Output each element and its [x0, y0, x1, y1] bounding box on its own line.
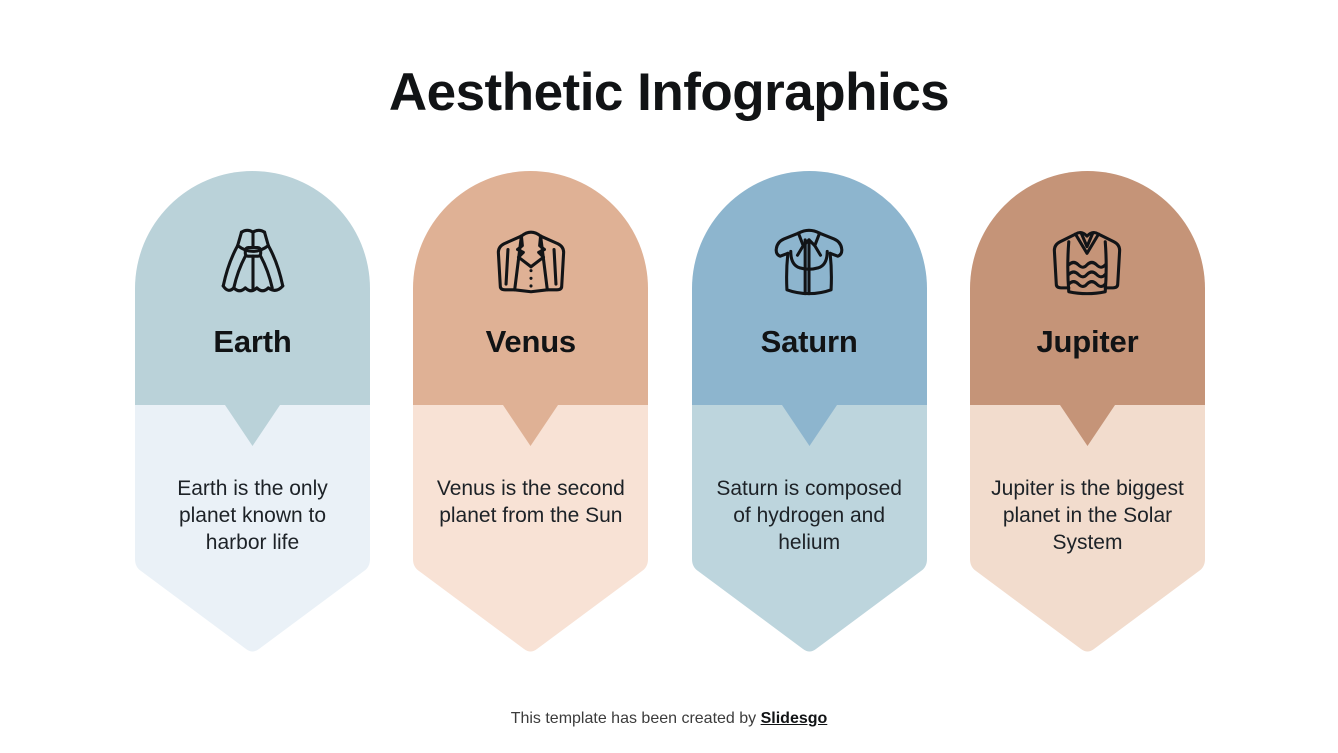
- infographic-card-row: Earth Earth is the only planet known to …: [135, 171, 1205, 661]
- card-content: Jupiter: [970, 171, 1205, 661]
- infographic-card-earth[interactable]: Earth Earth is the only planet known to …: [135, 171, 370, 661]
- card-body-text: Venus is the second planet from the Sun: [427, 476, 634, 530]
- card-body-text: Earth is the only planet known to harbor…: [149, 476, 356, 557]
- sweater-icon: [1039, 213, 1135, 309]
- card-body-text: Saturn is composed of hydrogen and heliu…: [706, 476, 913, 557]
- card-heading: Jupiter: [1037, 325, 1139, 359]
- blazer-icon: [483, 213, 579, 309]
- page-title: Aesthetic Infographics: [0, 64, 1338, 122]
- blouse-icon: [761, 213, 857, 309]
- slidesgo-link[interactable]: Slidesgo: [761, 710, 828, 727]
- infographic-card-venus[interactable]: Venus Venus is the second planet from th…: [413, 171, 648, 661]
- card-content: Saturn: [692, 171, 927, 661]
- card-heading: Saturn: [761, 325, 858, 359]
- card-content: Earth: [135, 171, 370, 661]
- card-heading: Earth: [213, 325, 291, 359]
- dress-icon: [205, 213, 301, 309]
- infographic-card-jupiter[interactable]: Jupiter Jupiter is the biggest planet in…: [970, 171, 1205, 661]
- footer-text: This template has been created by: [511, 710, 761, 727]
- footer-credit: This template has been created by Slides…: [0, 710, 1338, 728]
- slide-canvas: Aesthetic Infographics: [0, 0, 1338, 753]
- infographic-card-saturn[interactable]: Saturn Saturn is composed of hydrogen an…: [692, 171, 927, 661]
- card-heading: Venus: [486, 325, 576, 359]
- card-body-text: Jupiter is the biggest planet in the Sol…: [984, 476, 1191, 557]
- card-content: Venus: [413, 171, 648, 661]
